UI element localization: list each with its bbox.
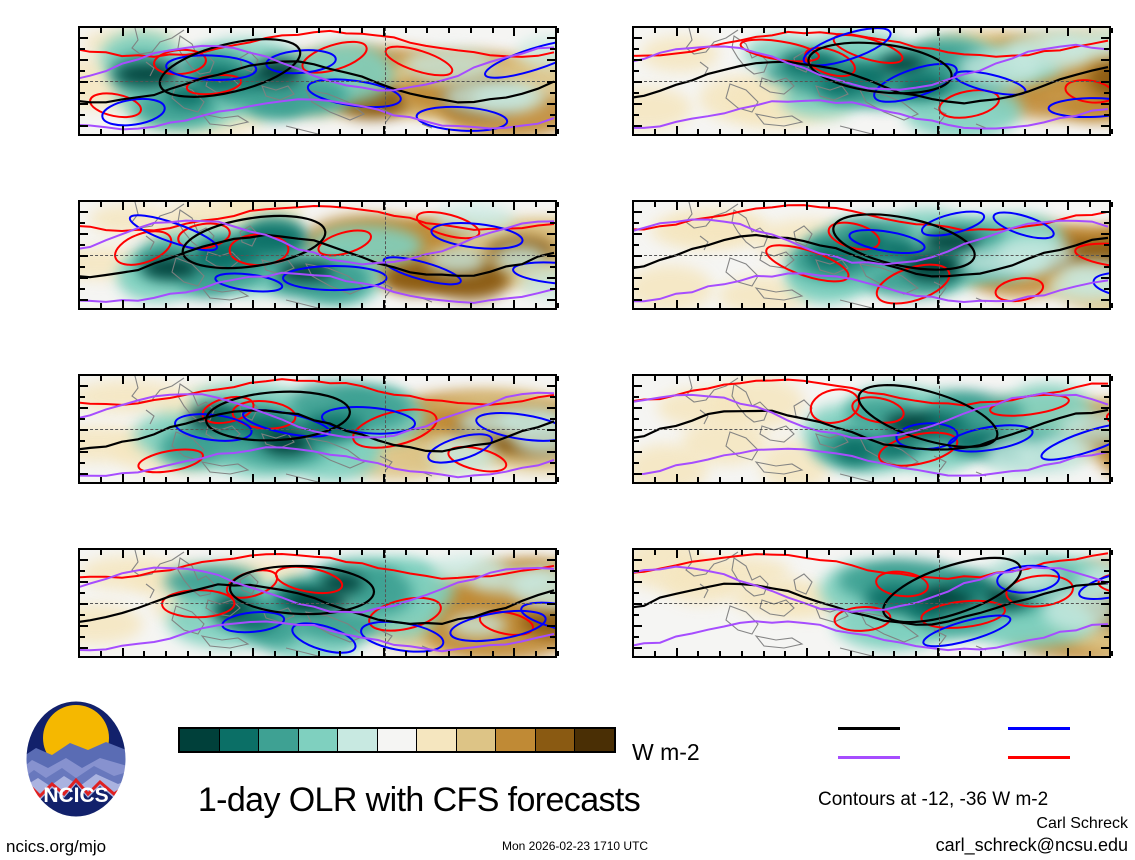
x-tick xyxy=(426,376,428,381)
x-tick xyxy=(100,550,102,555)
y-tick xyxy=(80,636,85,638)
x-tick xyxy=(252,376,254,384)
x-tick xyxy=(893,303,895,308)
y-tick xyxy=(634,244,639,246)
x-tick xyxy=(274,477,276,482)
x-tick xyxy=(187,651,189,656)
y-tick xyxy=(547,299,555,301)
x-tick xyxy=(296,550,298,555)
x-tick xyxy=(893,202,895,207)
x-tick xyxy=(78,202,80,207)
x-tick xyxy=(230,550,232,555)
x-tick xyxy=(980,376,982,381)
y-tick xyxy=(634,266,639,268)
x-tick xyxy=(937,202,939,210)
y-tick xyxy=(547,59,555,61)
x-tick xyxy=(1002,28,1004,33)
x-tick xyxy=(209,376,211,381)
y-tick xyxy=(1101,647,1109,649)
y-tick xyxy=(547,559,555,561)
x-tick xyxy=(697,477,699,482)
y-tick xyxy=(547,603,555,605)
x-tick xyxy=(959,550,961,555)
x-tick xyxy=(252,550,254,558)
equator-line xyxy=(634,81,1109,82)
x-tick xyxy=(763,477,765,482)
y-tick xyxy=(80,559,88,561)
x-tick xyxy=(230,28,232,33)
x-tick xyxy=(426,303,428,308)
x-tick xyxy=(828,129,830,134)
x-tick xyxy=(78,376,80,381)
x-tick xyxy=(872,550,874,555)
x-tick xyxy=(719,651,721,656)
x-tick xyxy=(937,648,939,656)
x-tick xyxy=(78,28,80,33)
x-tick xyxy=(806,202,808,210)
y-tick xyxy=(1104,244,1109,246)
y-tick xyxy=(1101,59,1109,61)
x-tick xyxy=(274,303,276,308)
x-tick xyxy=(535,303,537,308)
x-tick xyxy=(470,303,472,308)
x-tick xyxy=(915,651,917,656)
x-tick xyxy=(806,300,808,308)
x-tick xyxy=(535,202,537,207)
y-tick xyxy=(550,418,555,420)
x-tick xyxy=(872,202,874,207)
y-tick xyxy=(547,81,555,83)
x-tick xyxy=(1089,651,1091,656)
x-tick xyxy=(697,376,699,381)
x-tick xyxy=(872,477,874,482)
x-tick xyxy=(100,28,102,33)
x-tick xyxy=(980,550,982,555)
dateline-marker xyxy=(939,376,940,482)
x-tick xyxy=(1024,477,1026,482)
x-tick xyxy=(274,550,276,555)
x-tick xyxy=(405,651,407,656)
x-tick xyxy=(937,300,939,308)
x-tick xyxy=(763,303,765,308)
x-tick xyxy=(274,376,276,381)
y-tick xyxy=(634,625,642,627)
y-tick xyxy=(634,429,642,431)
x-tick xyxy=(383,474,385,482)
y-tick xyxy=(547,385,555,387)
x-tick xyxy=(557,303,559,308)
x-tick xyxy=(557,477,559,482)
x-tick xyxy=(1089,303,1091,308)
y-tick xyxy=(550,440,555,442)
y-tick xyxy=(634,37,642,39)
x-tick xyxy=(361,477,363,482)
x-tick xyxy=(1067,126,1069,134)
legend-line-low xyxy=(838,756,900,759)
y-tick xyxy=(547,473,555,475)
x-tick xyxy=(959,28,961,33)
x-tick xyxy=(383,550,385,558)
x-tick xyxy=(1067,300,1069,308)
dateline-marker xyxy=(385,202,386,308)
x-tick xyxy=(1089,477,1091,482)
x-tick xyxy=(719,376,721,381)
colorbar-swatch xyxy=(180,729,219,751)
y-tick xyxy=(634,48,639,50)
y-tick xyxy=(80,299,88,301)
y-tick xyxy=(634,636,639,638)
y-tick xyxy=(634,103,642,105)
x-tick xyxy=(741,129,743,134)
y-tick xyxy=(80,625,88,627)
y-tick xyxy=(550,636,555,638)
x-tick xyxy=(143,202,145,207)
x-tick xyxy=(122,550,124,558)
x-tick xyxy=(361,376,363,381)
y-tick xyxy=(80,614,85,616)
x-tick xyxy=(165,550,167,555)
x-tick xyxy=(1067,648,1069,656)
x-tick xyxy=(383,28,385,36)
y-tick xyxy=(547,625,555,627)
x-tick xyxy=(122,28,124,36)
y-tick xyxy=(80,233,88,235)
x-tick xyxy=(513,300,515,308)
y-tick xyxy=(1101,559,1109,561)
x-tick xyxy=(492,651,494,656)
x-tick xyxy=(252,300,254,308)
y-tick xyxy=(634,570,639,572)
x-tick xyxy=(959,129,961,134)
y-tick xyxy=(1101,37,1109,39)
x-tick xyxy=(937,126,939,134)
x-tick xyxy=(850,129,852,134)
y-tick xyxy=(80,255,88,257)
x-tick xyxy=(535,376,537,381)
y-tick xyxy=(550,462,555,464)
x-tick xyxy=(187,202,189,207)
x-tick xyxy=(470,477,472,482)
x-tick xyxy=(383,648,385,656)
x-tick xyxy=(1089,202,1091,207)
x-tick xyxy=(872,129,874,134)
x-tick xyxy=(143,303,145,308)
dateline-marker xyxy=(939,202,940,308)
x-tick xyxy=(654,651,656,656)
x-tick xyxy=(850,477,852,482)
x-tick xyxy=(654,477,656,482)
x-tick xyxy=(122,126,124,134)
x-tick xyxy=(676,28,678,36)
x-tick xyxy=(492,550,494,555)
x-tick xyxy=(1111,376,1113,381)
x-tick xyxy=(719,28,721,33)
y-tick xyxy=(80,288,85,290)
x-tick xyxy=(1067,28,1069,36)
x-tick xyxy=(339,303,341,308)
x-tick xyxy=(632,303,634,308)
x-tick xyxy=(296,651,298,656)
y-tick xyxy=(1101,385,1109,387)
y-tick xyxy=(547,451,555,453)
y-tick xyxy=(547,407,555,409)
x-tick xyxy=(915,303,917,308)
y-tick xyxy=(80,451,88,453)
y-tick xyxy=(547,211,555,213)
y-tick xyxy=(80,592,85,594)
colorbar-units-label: W m-2 xyxy=(632,741,700,764)
y-tick xyxy=(1101,451,1109,453)
y-tick xyxy=(1104,48,1109,50)
x-tick xyxy=(697,550,699,555)
x-tick xyxy=(470,550,472,555)
x-tick xyxy=(143,651,145,656)
y-tick xyxy=(550,266,555,268)
x-tick xyxy=(448,303,450,308)
y-tick xyxy=(634,581,642,583)
x-tick xyxy=(697,303,699,308)
x-tick xyxy=(318,651,320,656)
x-tick xyxy=(676,300,678,308)
y-tick xyxy=(80,603,88,605)
equator-line xyxy=(80,81,555,82)
x-tick xyxy=(78,550,80,555)
x-tick xyxy=(784,550,786,555)
equator-line xyxy=(80,255,555,256)
x-tick xyxy=(893,28,895,33)
y-tick xyxy=(80,473,88,475)
plot-area-26-feb xyxy=(632,548,1111,658)
x-tick xyxy=(405,376,407,381)
author-email: carl_schreck@ncsu.edu xyxy=(828,836,1128,854)
x-tick xyxy=(252,28,254,36)
x-tick xyxy=(361,303,363,308)
y-tick xyxy=(634,592,639,594)
x-tick xyxy=(209,303,211,308)
x-tick xyxy=(252,126,254,134)
x-tick xyxy=(405,202,407,207)
x-tick xyxy=(784,477,786,482)
x-tick xyxy=(165,202,167,207)
y-tick xyxy=(80,103,88,105)
x-tick xyxy=(763,376,765,381)
plot-area-24-feb xyxy=(632,200,1111,310)
dateline-marker xyxy=(939,28,940,134)
x-tick xyxy=(850,651,852,656)
x-tick xyxy=(274,202,276,207)
x-tick xyxy=(492,129,494,134)
legend-line-kelvin xyxy=(1008,727,1070,730)
y-tick xyxy=(547,429,555,431)
y-tick xyxy=(1104,222,1109,224)
y-tick xyxy=(634,396,639,398)
x-tick xyxy=(828,376,830,381)
x-tick xyxy=(557,129,559,134)
x-tick xyxy=(697,202,699,207)
y-tick xyxy=(80,244,85,246)
colorbar-swatch xyxy=(456,729,496,751)
x-tick xyxy=(741,651,743,656)
x-tick xyxy=(741,477,743,482)
x-tick xyxy=(784,28,786,33)
y-tick xyxy=(634,59,642,61)
x-tick xyxy=(383,300,385,308)
y-tick xyxy=(550,288,555,290)
x-tick xyxy=(405,303,407,308)
y-tick xyxy=(634,603,642,605)
x-tick xyxy=(632,550,634,555)
y-tick xyxy=(547,233,555,235)
x-tick xyxy=(296,129,298,134)
x-tick xyxy=(78,129,80,134)
y-tick xyxy=(80,211,88,213)
x-tick xyxy=(763,202,765,207)
x-tick xyxy=(318,28,320,33)
x-tick xyxy=(361,550,363,555)
x-tick xyxy=(828,477,830,482)
y-tick xyxy=(1101,255,1109,257)
y-tick xyxy=(1104,462,1109,464)
x-tick xyxy=(513,202,515,210)
x-tick xyxy=(784,651,786,656)
x-tick xyxy=(676,126,678,134)
x-tick xyxy=(143,477,145,482)
x-tick xyxy=(719,129,721,134)
x-tick xyxy=(361,129,363,134)
x-tick xyxy=(426,129,428,134)
x-tick xyxy=(1046,651,1048,656)
y-tick xyxy=(547,255,555,257)
x-tick xyxy=(676,550,678,558)
x-tick xyxy=(187,477,189,482)
x-tick xyxy=(339,129,341,134)
x-tick xyxy=(209,28,211,33)
plot-area-21-feb xyxy=(78,374,557,484)
x-tick xyxy=(274,129,276,134)
plot-area-22-feb xyxy=(78,548,557,658)
x-tick xyxy=(78,303,80,308)
y-tick xyxy=(634,255,642,257)
y-tick xyxy=(634,125,642,127)
x-tick xyxy=(850,376,852,381)
x-tick xyxy=(339,28,341,33)
y-tick xyxy=(80,59,88,61)
x-tick xyxy=(632,376,634,381)
x-tick xyxy=(1111,651,1113,656)
x-tick xyxy=(318,129,320,134)
x-tick xyxy=(209,651,211,656)
y-tick xyxy=(80,37,88,39)
y-tick xyxy=(1101,211,1109,213)
y-tick xyxy=(1104,614,1109,616)
x-tick xyxy=(100,651,102,656)
y-tick xyxy=(634,114,639,116)
y-tick xyxy=(80,462,85,464)
y-tick xyxy=(634,233,642,235)
y-tick xyxy=(1101,407,1109,409)
x-tick xyxy=(165,303,167,308)
y-tick xyxy=(634,277,642,279)
x-tick xyxy=(959,376,961,381)
y-tick xyxy=(634,407,642,409)
x-tick xyxy=(632,28,634,33)
x-tick xyxy=(209,477,211,482)
y-tick xyxy=(80,266,85,268)
x-tick xyxy=(209,550,211,555)
x-tick xyxy=(915,129,917,134)
x-tick xyxy=(1046,550,1048,555)
x-tick xyxy=(893,129,895,134)
x-tick xyxy=(697,129,699,134)
x-tick xyxy=(513,28,515,36)
x-tick xyxy=(719,477,721,482)
y-tick xyxy=(550,222,555,224)
x-tick xyxy=(937,28,939,36)
x-tick xyxy=(763,651,765,656)
y-tick xyxy=(80,125,88,127)
x-tick xyxy=(1024,376,1026,381)
x-tick xyxy=(557,651,559,656)
x-tick xyxy=(893,477,895,482)
y-tick xyxy=(1104,266,1109,268)
x-tick xyxy=(915,376,917,381)
dateline-marker xyxy=(939,550,940,656)
y-tick xyxy=(80,570,85,572)
x-tick xyxy=(78,477,80,482)
x-tick xyxy=(513,126,515,134)
y-tick xyxy=(634,222,639,224)
x-tick xyxy=(122,202,124,210)
y-tick xyxy=(80,92,85,94)
x-tick xyxy=(1002,477,1004,482)
x-tick xyxy=(741,28,743,33)
x-tick xyxy=(1002,129,1004,134)
x-tick xyxy=(1067,474,1069,482)
equator-line xyxy=(634,429,1109,430)
x-tick xyxy=(492,28,494,33)
x-tick xyxy=(1089,28,1091,33)
x-tick xyxy=(1046,477,1048,482)
x-tick xyxy=(230,129,232,134)
plot-area-20-feb xyxy=(78,200,557,310)
x-tick xyxy=(187,303,189,308)
x-tick xyxy=(230,376,232,381)
x-tick xyxy=(893,651,895,656)
x-tick xyxy=(274,28,276,33)
colorbar xyxy=(178,727,616,753)
x-tick xyxy=(448,651,450,656)
equator-line xyxy=(80,603,555,604)
x-tick xyxy=(492,376,494,381)
x-tick xyxy=(1067,202,1069,210)
y-tick xyxy=(547,581,555,583)
x-tick xyxy=(492,202,494,207)
y-tick xyxy=(1104,396,1109,398)
x-tick xyxy=(1089,129,1091,134)
plot-area-23-feb xyxy=(632,26,1111,136)
x-tick xyxy=(1089,376,1091,381)
x-tick xyxy=(872,28,874,33)
y-tick xyxy=(1101,625,1109,627)
colorbar-swatch xyxy=(495,729,535,751)
x-tick xyxy=(448,550,450,555)
x-tick xyxy=(361,28,363,33)
x-tick xyxy=(763,550,765,555)
x-tick xyxy=(872,376,874,381)
y-tick xyxy=(80,647,88,649)
y-tick xyxy=(1104,418,1109,420)
y-tick xyxy=(1104,570,1109,572)
